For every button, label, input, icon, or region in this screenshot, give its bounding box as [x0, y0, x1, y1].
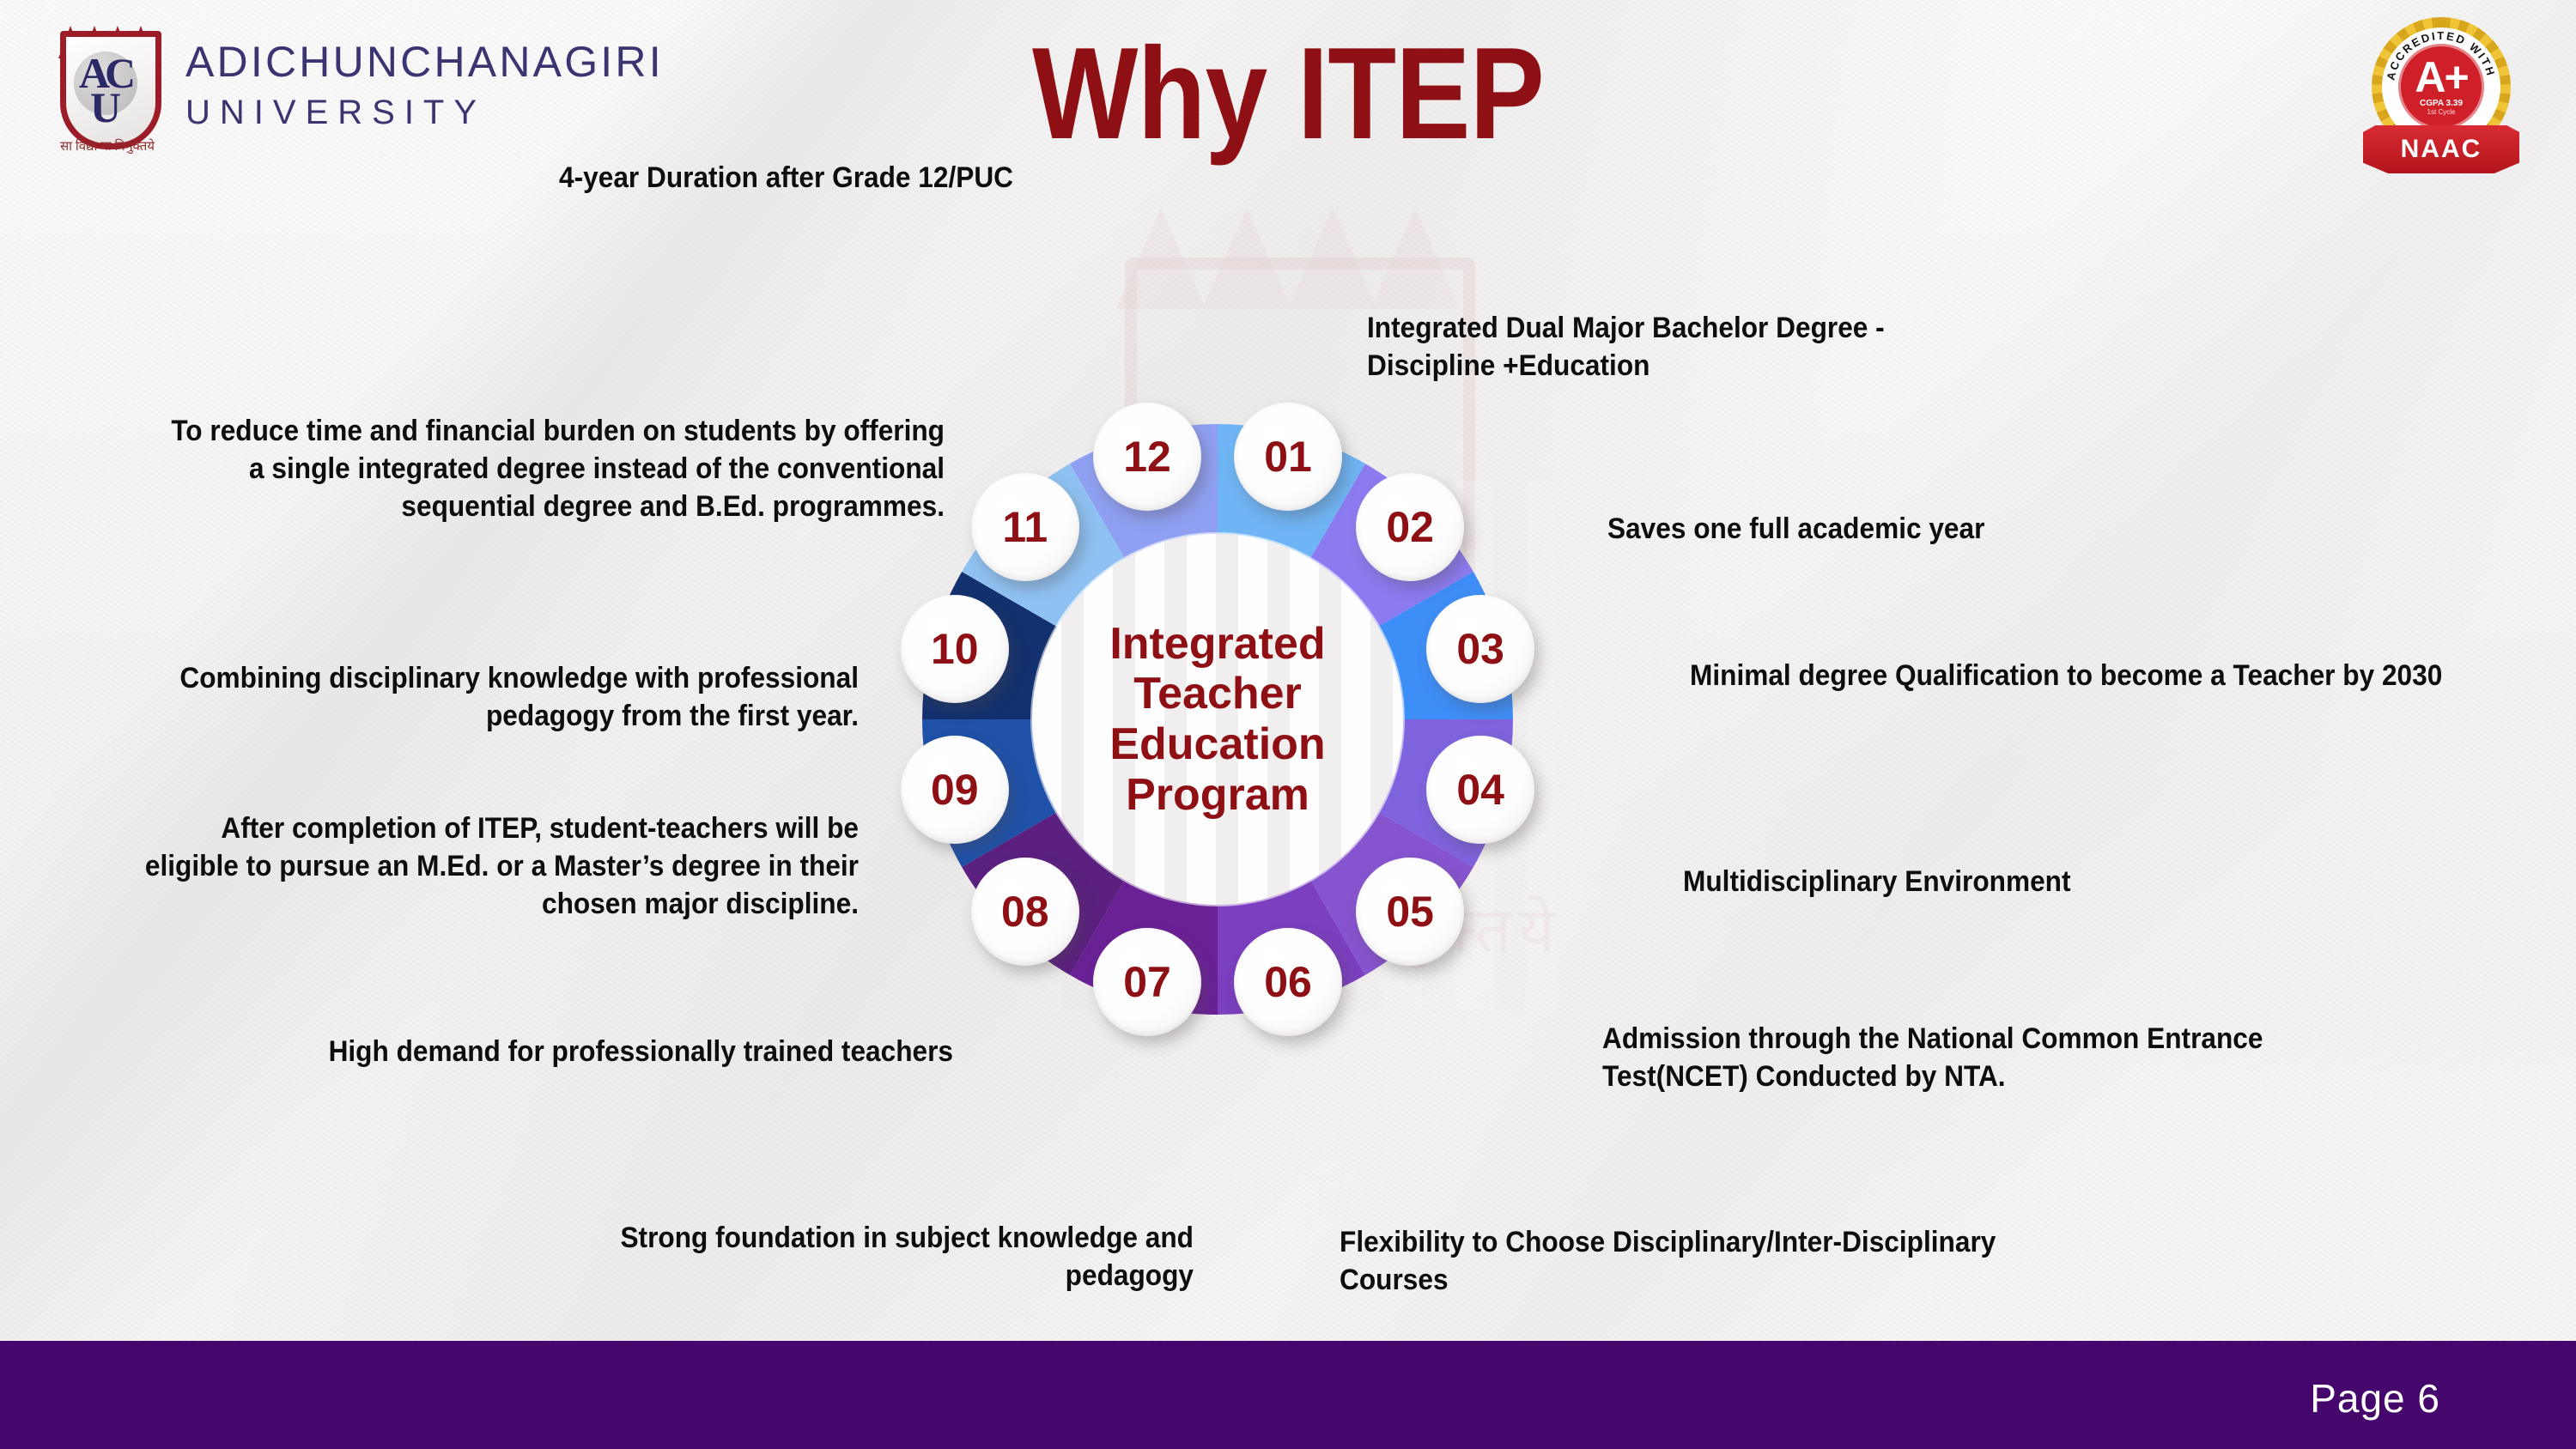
wheel-node-04[interactable]: 04	[1426, 736, 1534, 844]
callout-08: Strong foundation in subject knowledge a…	[562, 1219, 1194, 1294]
wheel-node-12[interactable]: 12	[1093, 403, 1201, 511]
wheel-hub-label: IntegratedTeacherEducationProgram	[1109, 619, 1325, 821]
wheel-hub-line-4: Program	[1109, 770, 1325, 821]
callout-09: High demand for professionally trained t…	[290, 1033, 953, 1070]
badge-cycle-value: 1st Cycle	[2427, 108, 2456, 116]
wheel-hub-line-2: Teacher	[1109, 669, 1325, 719]
badge-grade-disc: A+ CGPA 3.39 1st Cycle	[2398, 44, 2484, 130]
callout-07: Flexibility to Choose Disciplinary/Inter…	[1340, 1223, 2058, 1299]
badge-agency-name: NAAC	[2401, 135, 2482, 164]
callout-10: After completion of ITEP, student-teache…	[140, 809, 859, 924]
wheel-node-08[interactable]: 08	[971, 858, 1079, 966]
crest-monogram: AC U	[52, 52, 158, 129]
callout-02: Integrated Dual Major Bachelor Degree - …	[1367, 309, 1926, 385]
wheel-node-07[interactable]: 07	[1093, 928, 1201, 1036]
badge-cgpa-value: CGPA 3.39	[2420, 99, 2463, 108]
callout-05: Multidisciplinary Environment	[1683, 863, 2402, 900]
wheel-hub-line-3: Education	[1109, 719, 1325, 770]
badge-grade-value: A+	[2415, 58, 2467, 97]
wheel-node-10[interactable]: 10	[901, 595, 1009, 703]
page-title: Why ITEP	[180, 19, 2396, 169]
wheel-node-02[interactable]: 02	[1356, 473, 1464, 581]
wheel-node-06[interactable]: 06	[1234, 928, 1342, 1036]
callout-12: To reduce time and financial burden on s…	[162, 412, 945, 526]
callout-01: 4-year Duration after Grade 12/PUC	[406, 159, 1013, 197]
wheel-node-05[interactable]: 05	[1356, 858, 1464, 966]
footer-bar: Page 6	[0, 1341, 2576, 1449]
wheel-hub-line-1: Integrated	[1109, 619, 1325, 670]
page-number: Page 6	[2310, 1375, 2440, 1422]
callout-06: Admission through the National Common En…	[1602, 1020, 2401, 1095]
wheel-node-09[interactable]: 09	[901, 736, 1009, 844]
watermark-crown-icon	[1116, 206, 1460, 309]
callout-03: Saves one full academic year	[1607, 510, 2263, 548]
wheel-node-11[interactable]: 11	[971, 473, 1079, 581]
crest-monogram-line2: U	[52, 86, 158, 129]
crest-motto-text: सा विद्या या विमुक्तये	[48, 137, 167, 155]
university-crest-icon: AC U सा विद्या या विमुक्तये	[52, 12, 163, 158]
wheel-node-01[interactable]: 01	[1234, 403, 1342, 511]
callout-04: Minimal degree Qualification to become a…	[1690, 657, 2488, 694]
wheel-node-03[interactable]: 03	[1426, 595, 1534, 703]
callout-11: Combining disciplinary knowledge with pr…	[172, 659, 859, 735]
wheel-hub: IntegratedTeacherEducationProgram	[1032, 534, 1403, 905]
itep-wheel-diagram: IntegratedTeacherEducationProgram 010203…	[891, 393, 1544, 1046]
slide-canvas: सा विद्या या विमुक्तये AC U सा विद्या या…	[0, 0, 2576, 1449]
